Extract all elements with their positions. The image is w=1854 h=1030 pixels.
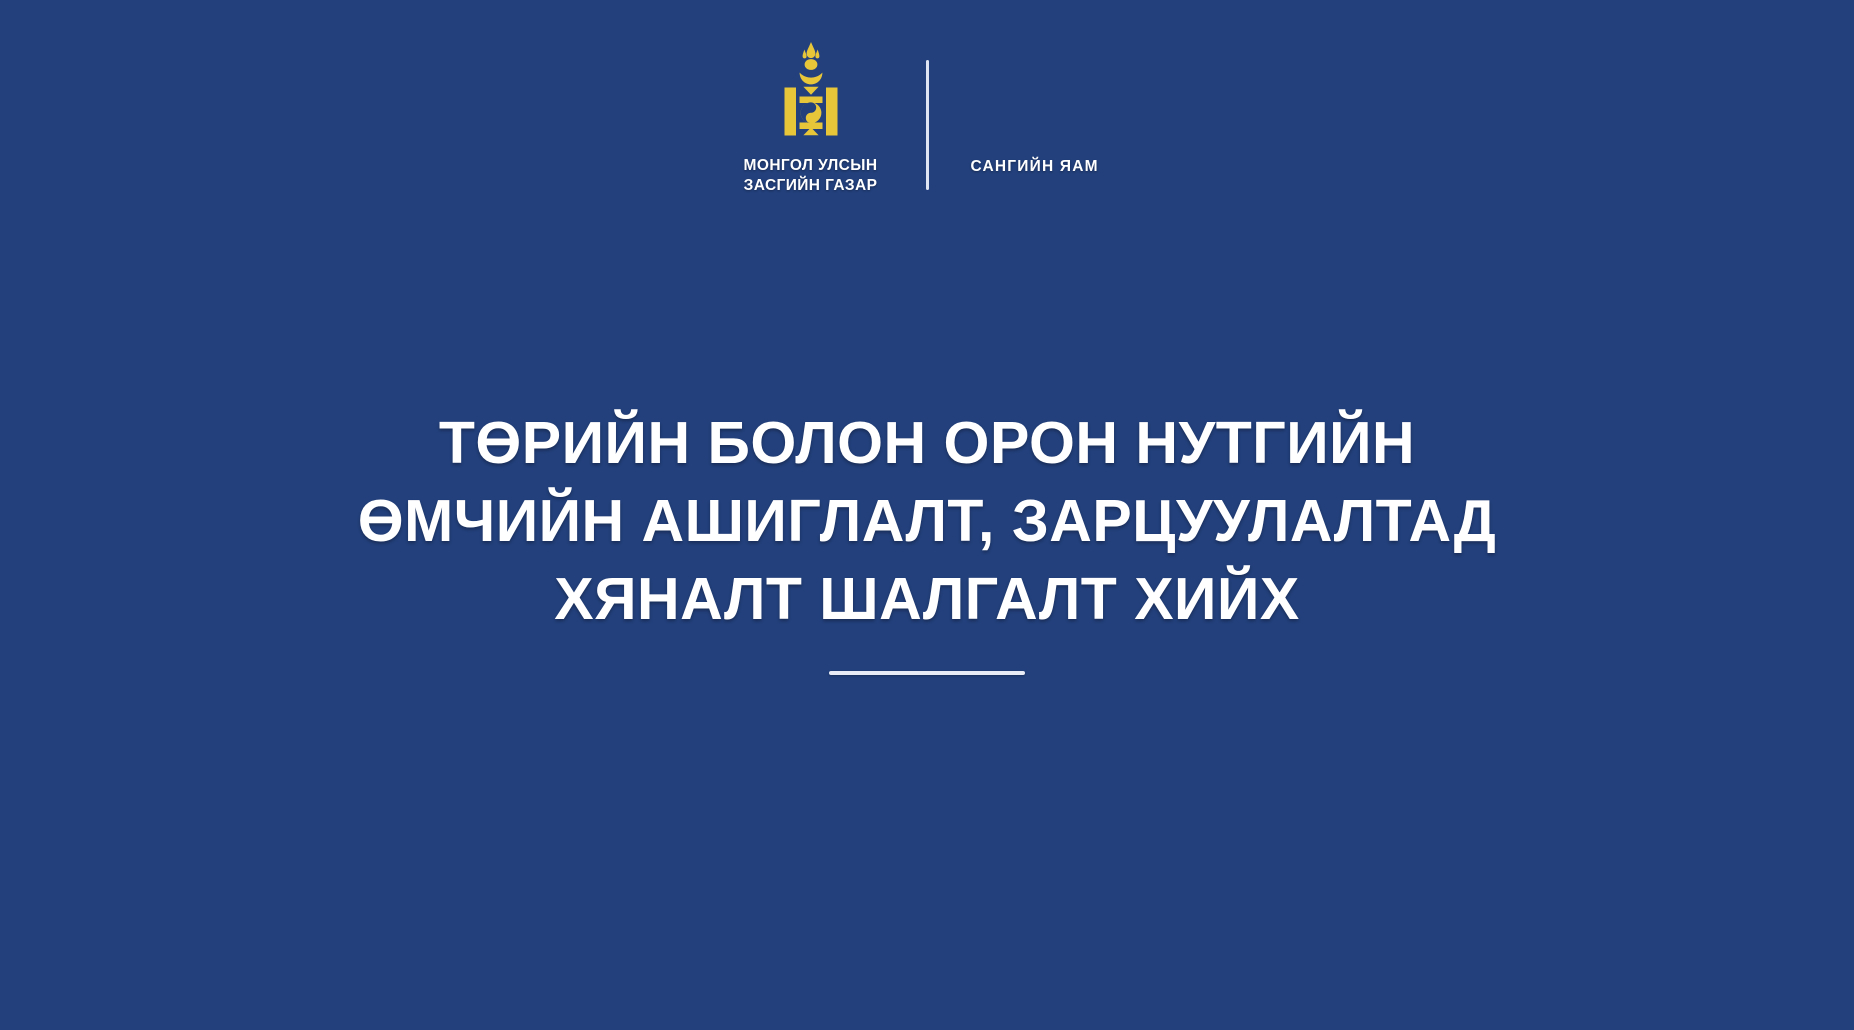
government-brand-line-1: МОНГОЛ УЛСЫН xyxy=(744,157,878,174)
page-title-line-3: ХЯНАЛТ ШАЛГАЛТ ХИЙХ xyxy=(0,560,1854,638)
title-slide: МОНГОЛ УЛСЫН ЗАСГИЙН ГАЗАР САНГИЙН ЯАМ Т… xyxy=(0,0,1854,1030)
brand-lockup: МОНГОЛ УЛСЫН ЗАСГИЙН ГАЗАР САНГИЙН ЯАМ xyxy=(0,40,1854,200)
page-title: ТӨРИЙН БОЛОН ОРОН НУТГИЙН ӨМЧИЙН АШИГЛАЛ… xyxy=(0,404,1854,638)
government-brand: МОНГОЛ УЛСЫН ЗАСГИЙН ГАЗАР xyxy=(716,40,926,200)
government-brand-text: МОНГОЛ УЛСЫН ЗАСГИЙН ГАЗАР xyxy=(744,156,878,197)
title-underline-rule xyxy=(829,671,1025,675)
title-block: ТӨРИЙН БОЛОН ОРОН НУТГИЙН ӨМЧИЙН АШИГЛАЛ… xyxy=(0,404,1854,675)
ministry-brand-label: САНГИЙН ЯАМ xyxy=(971,158,1099,176)
ministry-brand: САНГИЙН ЯАМ xyxy=(929,40,1139,200)
soyombo-emblem-icon xyxy=(772,40,850,148)
page-title-line-2: ӨМЧИЙН АШИГЛАЛТ, ЗАРЦУУЛАЛТАД xyxy=(0,482,1854,560)
government-brand-line-2: ЗАСГИЙН ГАЗАР xyxy=(744,177,878,194)
page-title-line-1: ТӨРИЙН БОЛОН ОРОН НУТГИЙН xyxy=(0,404,1854,482)
